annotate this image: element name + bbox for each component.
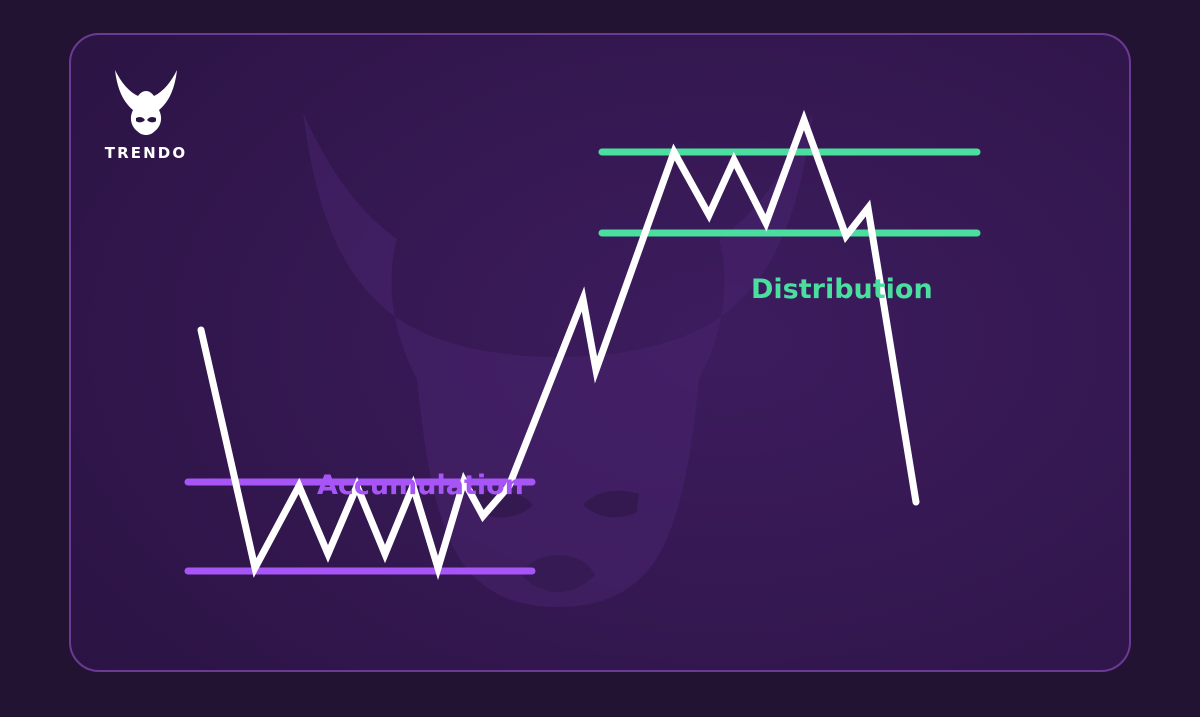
bull-head-icon	[110, 68, 182, 136]
accumulation-label: Accumulation	[317, 472, 524, 499]
price-chart-svg	[71, 35, 1131, 672]
screenshot-root: Accumulation Distribution TRENDO	[0, 0, 1200, 717]
brand-logo: TRENDO	[103, 68, 189, 168]
chart-card: Accumulation Distribution	[69, 33, 1131, 672]
distribution-label: Distribution	[751, 276, 933, 303]
brand-wordmark: TRENDO	[103, 146, 189, 161]
